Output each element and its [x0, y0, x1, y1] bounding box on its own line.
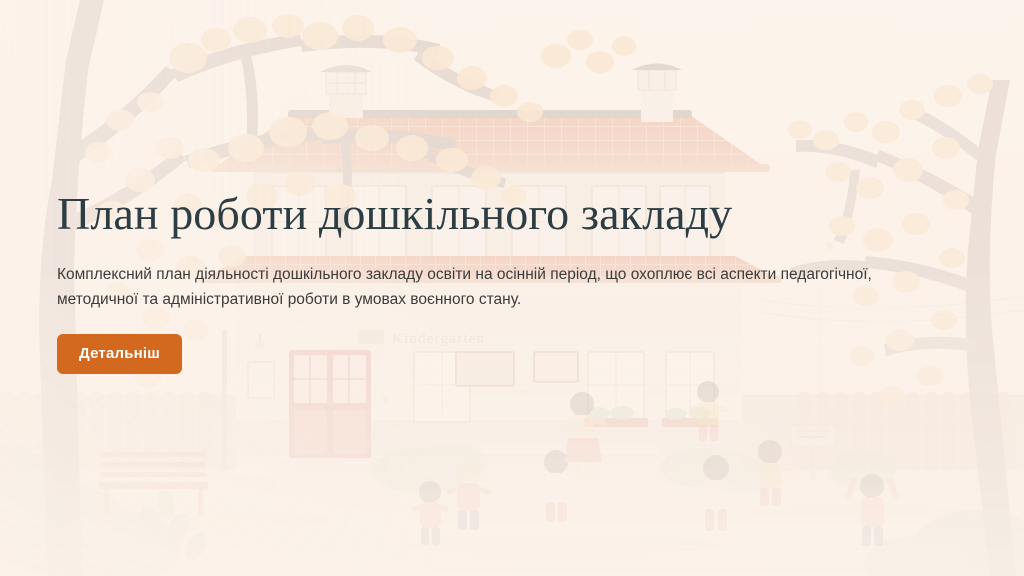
hero-banner: Kindergarten [0, 0, 1024, 576]
hero-content: План роботи дошкільного закладу Комплекс… [57, 188, 957, 374]
details-button[interactable]: Детальніш [57, 334, 182, 374]
hero-subtitle: Комплексний план діяльності дошкільного … [57, 262, 935, 312]
page-title: План роботи дошкільного закладу [57, 188, 957, 240]
